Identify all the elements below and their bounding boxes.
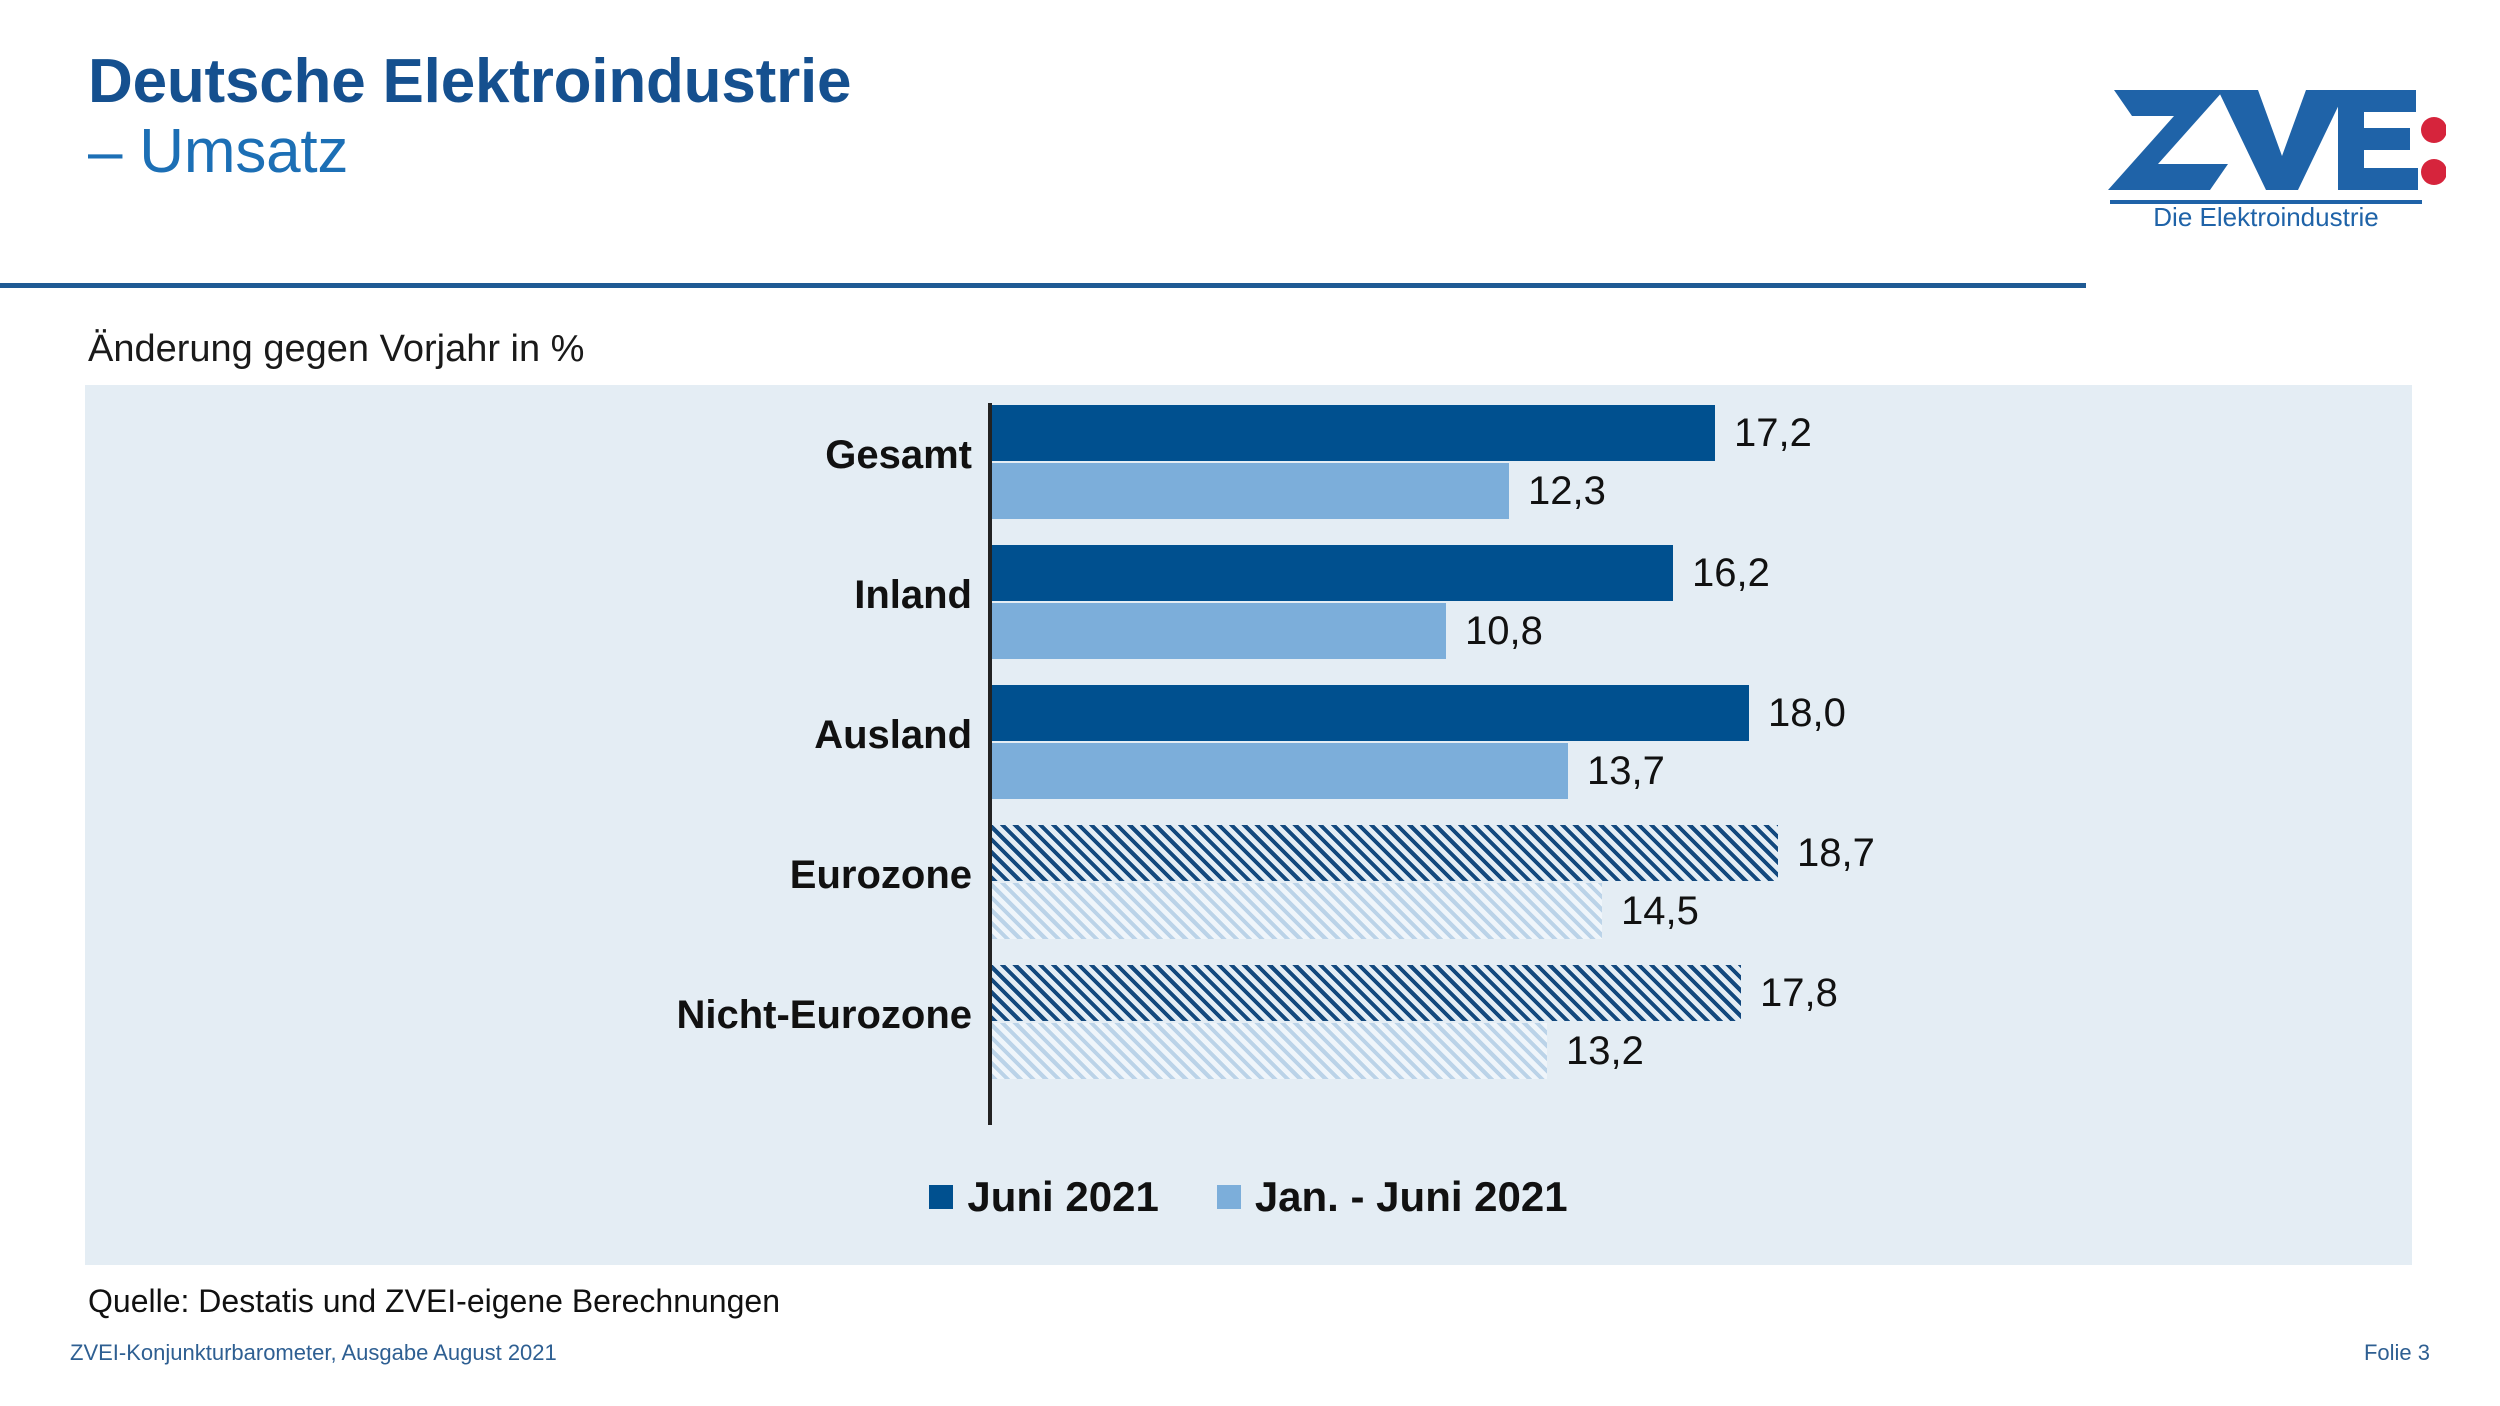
slide-header: Deutsche Elektroindustrie – Umsatz bbox=[0, 0, 2500, 290]
page-title: Deutsche Elektroindustrie – Umsatz bbox=[88, 50, 851, 185]
bar-value-juni-eurozone: 18,7 bbox=[1797, 833, 1875, 873]
category-label: Nicht-Eurozone bbox=[676, 995, 972, 1035]
slide-footer: ZVEI-Konjunkturbarometer, Ausgabe August… bbox=[0, 1340, 2500, 1390]
bar-value-janjuni-gesamt: 12,3 bbox=[1528, 471, 1606, 511]
svg-text:Die Elektroindustrie: Die Elektroindustrie bbox=[2153, 202, 2378, 228]
category-label: Eurozone bbox=[790, 855, 972, 895]
bar-row-juni: 17,8 bbox=[992, 965, 2412, 1021]
legend-item-jan-juni-2021[interactable]: Jan. - Juni 2021 bbox=[1217, 1176, 1568, 1218]
bars-wrap: 18,7 14,5 bbox=[992, 823, 2412, 953]
bar-row-janjuni: 12,3 bbox=[992, 463, 2412, 519]
chart-panel: Gesamt 17,2 12,3 Inland 16,2 bbox=[85, 385, 2412, 1265]
legend-swatch-icon bbox=[1217, 1185, 1241, 1209]
footer-slide-number: Folie 3 bbox=[2364, 1340, 2430, 1366]
bar-row-janjuni: 14,5 bbox=[992, 883, 2412, 939]
chart-subtitle: Änderung gegen Vorjahr in % bbox=[88, 328, 584, 371]
zvei-logo: Die Elektroindustrie bbox=[2106, 60, 2446, 228]
legend-swatch-icon bbox=[929, 1185, 953, 1209]
bars-wrap: 17,8 13,2 bbox=[992, 963, 2412, 1093]
bar-row-janjuni: 10,8 bbox=[992, 603, 2412, 659]
bar-row-juni: 18,0 bbox=[992, 685, 2412, 741]
bar-value-juni-nicht-eurozone: 17,8 bbox=[1760, 973, 1838, 1013]
bar-value-janjuni-inland: 10,8 bbox=[1465, 611, 1543, 651]
page-title-main: Deutsche Elektroindustrie bbox=[88, 50, 851, 114]
bar-group-inland: Inland 16,2 10,8 bbox=[85, 543, 2412, 673]
bar-group-eurozone: Eurozone 18,7 14,5 bbox=[85, 823, 2412, 953]
bar-group-nicht-eurozone: Nicht-Eurozone 17,8 13,2 bbox=[85, 963, 2412, 1093]
legend-item-juni-2021[interactable]: Juni 2021 bbox=[929, 1176, 1158, 1218]
bar-janjuni-nicht-eurozone bbox=[992, 1023, 1547, 1079]
category-label: Gesamt bbox=[825, 435, 972, 475]
bar-juni-inland bbox=[992, 545, 1673, 601]
bar-janjuni-gesamt bbox=[992, 463, 1509, 519]
bar-group-ausland: Ausland 18,0 13,7 bbox=[85, 683, 2412, 813]
chart-legend: Juni 2021 Jan. - Juni 2021 bbox=[85, 1147, 2412, 1247]
bar-row-janjuni: 13,7 bbox=[992, 743, 2412, 799]
bar-janjuni-eurozone bbox=[992, 883, 1602, 939]
bar-janjuni-inland bbox=[992, 603, 1446, 659]
bar-juni-ausland bbox=[992, 685, 1749, 741]
bar-row-janjuni: 13,2 bbox=[992, 1023, 2412, 1079]
page-title-sub: – Umsatz bbox=[88, 120, 851, 184]
bar-janjuni-ausland bbox=[992, 743, 1568, 799]
legend-label: Juni 2021 bbox=[967, 1176, 1158, 1218]
category-label: Inland bbox=[854, 575, 972, 615]
bar-group-gesamt: Gesamt 17,2 12,3 bbox=[85, 403, 2412, 533]
bar-row-juni: 18,7 bbox=[992, 825, 2412, 881]
bar-value-juni-inland: 16,2 bbox=[1692, 553, 1770, 593]
plot-area: Gesamt 17,2 12,3 Inland 16,2 bbox=[85, 385, 2412, 1145]
bars-wrap: 17,2 12,3 bbox=[992, 403, 2412, 533]
bar-juni-nicht-eurozone bbox=[992, 965, 1741, 1021]
bar-value-janjuni-ausland: 13,7 bbox=[1587, 751, 1665, 791]
bar-juni-eurozone bbox=[992, 825, 1778, 881]
bars-wrap: 18,0 13,7 bbox=[992, 683, 2412, 813]
bar-row-juni: 16,2 bbox=[992, 545, 2412, 601]
footer-publication-label: ZVEI-Konjunkturbarometer, Ausgabe August… bbox=[70, 1340, 557, 1366]
bar-value-janjuni-nicht-eurozone: 13,2 bbox=[1566, 1031, 1644, 1071]
bar-value-juni-gesamt: 17,2 bbox=[1734, 413, 1812, 453]
bars-wrap: 16,2 10,8 bbox=[992, 543, 2412, 673]
legend-label: Jan. - Juni 2021 bbox=[1255, 1176, 1568, 1218]
bar-value-juni-ausland: 18,0 bbox=[1768, 693, 1846, 733]
bar-value-janjuni-eurozone: 14,5 bbox=[1621, 891, 1699, 931]
bar-juni-gesamt bbox=[992, 405, 1715, 461]
bar-row-juni: 17,2 bbox=[992, 405, 2412, 461]
chart-source-note: Quelle: Destatis und ZVEI-eigene Berechn… bbox=[88, 1283, 780, 1320]
category-label: Ausland bbox=[814, 715, 972, 755]
header-divider bbox=[0, 283, 2086, 288]
